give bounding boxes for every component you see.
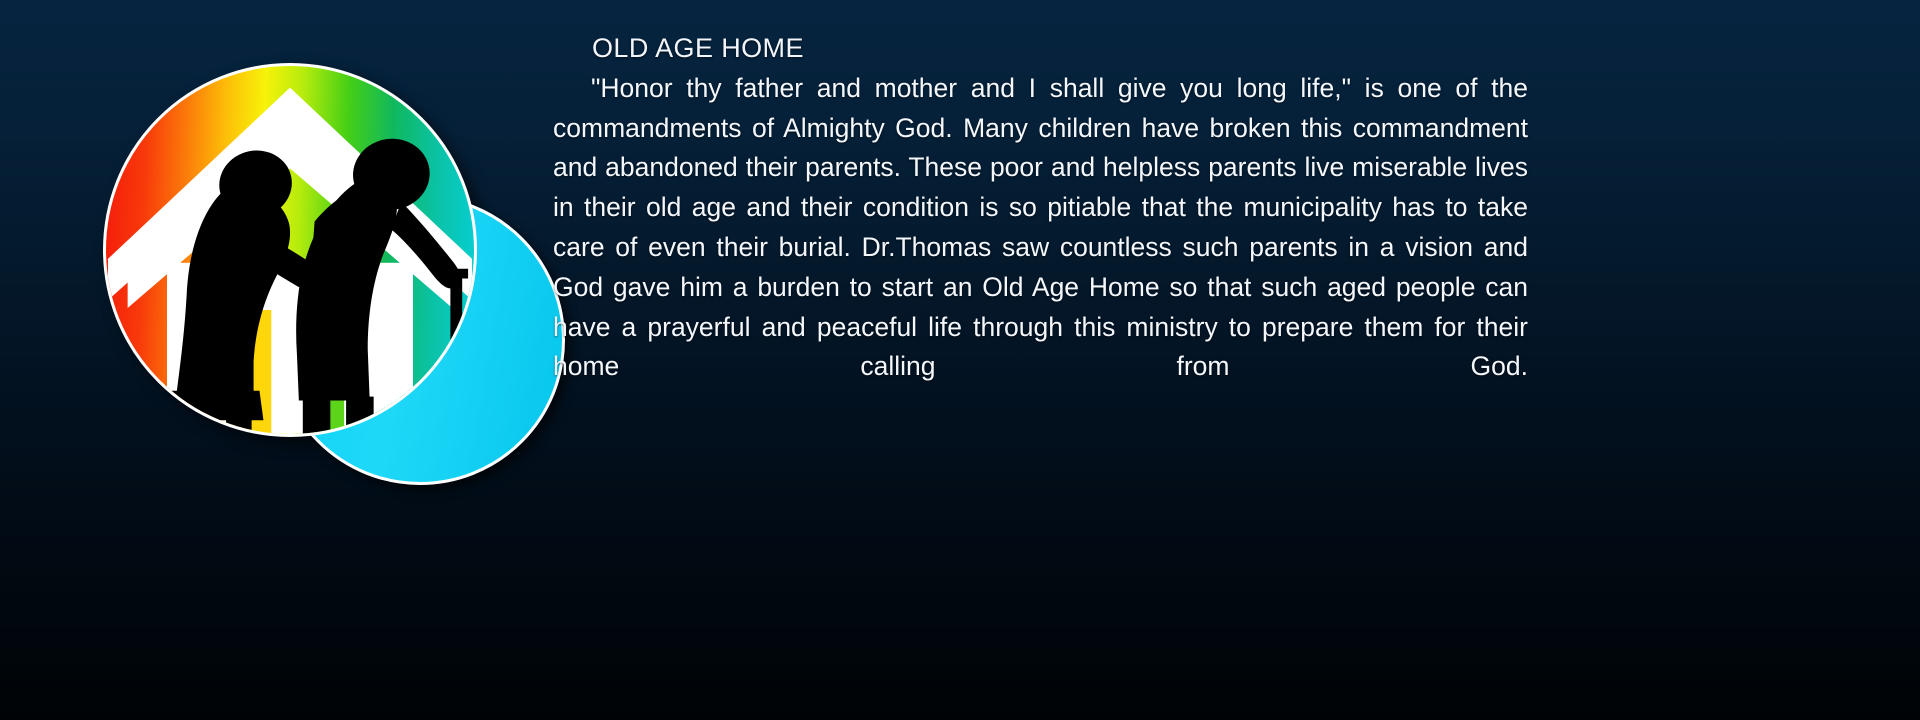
body-paragraph: "Honor thy father and mother and I shall… [553, 69, 1528, 427]
old-age-home-logo [95, 55, 485, 445]
content-panel: OLD AGE HOME "Honor thy father and mothe… [553, 33, 1528, 427]
page-title: OLD AGE HOME [553, 33, 1528, 65]
logo-gradient-ring [103, 63, 477, 437]
logo-artwork [106, 66, 474, 434]
